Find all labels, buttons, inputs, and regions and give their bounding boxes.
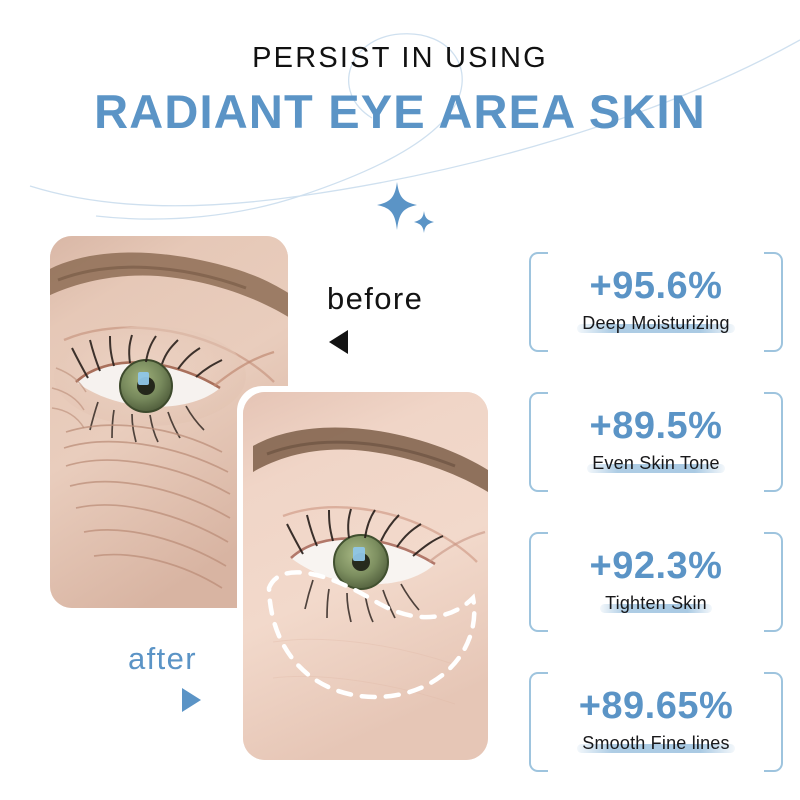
stat-label: Tighten Skin xyxy=(605,593,707,613)
after-caption: after xyxy=(128,643,201,712)
after-photo xyxy=(243,392,488,760)
bracket-right-icon xyxy=(764,672,783,772)
bracket-left-icon xyxy=(529,532,548,632)
bracket-left-icon xyxy=(529,672,548,772)
stat-label-wrap: Tighten Skin xyxy=(600,594,712,614)
stat-item: +95.6% Deep Moisturizing xyxy=(527,252,785,348)
stat-label-wrap: Even Skin Tone xyxy=(587,454,725,474)
before-caption: before xyxy=(327,283,423,354)
stat-value: +95.6% xyxy=(590,267,723,305)
page-title: RADIANT EYE AREA SKIN xyxy=(0,86,800,138)
triangle-right-icon xyxy=(182,688,201,712)
stat-label-wrap: Smooth Fine lines xyxy=(577,734,734,754)
stat-item: +89.5% Even Skin Tone xyxy=(527,392,785,488)
sparkle-icon xyxy=(372,180,442,236)
bracket-right-icon xyxy=(764,252,783,352)
bracket-left-icon xyxy=(529,252,548,352)
stat-item: +92.3% Tighten Skin xyxy=(527,532,785,628)
bracket-right-icon xyxy=(764,532,783,632)
before-label: before xyxy=(327,283,423,314)
stat-value: +89.65% xyxy=(579,687,734,725)
kicker-text: PERSIST IN USING xyxy=(0,42,800,75)
stat-label-wrap: Deep Moisturizing xyxy=(577,314,734,334)
stat-item: +89.65% Smooth Fine lines xyxy=(527,672,785,768)
after-label: after xyxy=(128,643,201,674)
promo-poster: PERSIST IN USING RADIANT EYE AREA SKIN xyxy=(0,0,800,800)
bracket-right-icon xyxy=(764,392,783,492)
stat-value: +89.5% xyxy=(590,407,723,445)
bracket-left-icon xyxy=(529,392,548,492)
heading-block: PERSIST IN USING RADIANT EYE AREA SKIN xyxy=(0,42,800,138)
stat-label: Smooth Fine lines xyxy=(582,733,729,753)
stats-list: +95.6% Deep Moisturizing +89.5% Even Ski… xyxy=(527,252,785,768)
stat-value: +92.3% xyxy=(590,547,723,585)
triangle-left-icon xyxy=(329,330,348,354)
stat-label: Even Skin Tone xyxy=(592,453,720,473)
stat-label: Deep Moisturizing xyxy=(582,313,729,333)
